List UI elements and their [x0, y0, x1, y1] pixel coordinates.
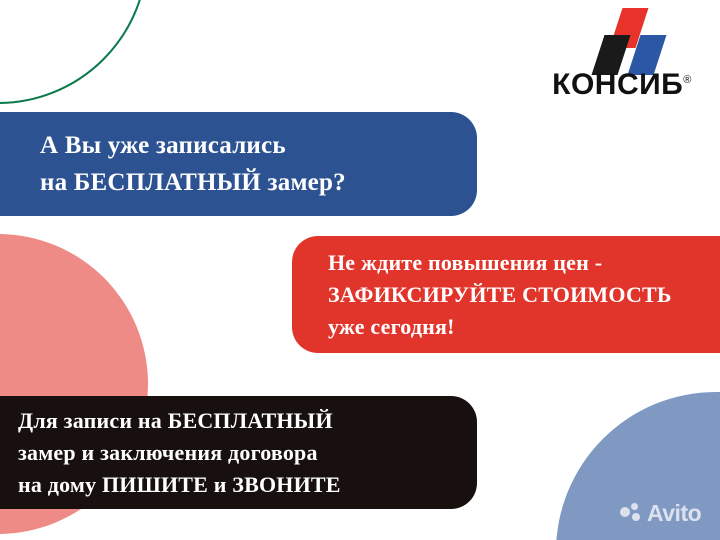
- black-banner-line-3: на дому ПИШИТЕ и ЗВОНИТЕ: [18, 469, 477, 501]
- black-banner-line-1: Для записи на БЕСПЛАТНЫЙ: [18, 405, 477, 437]
- logo-wordmark: КОНСИБ®: [532, 68, 712, 102]
- blue-banner-line-1: А Вы уже записались: [40, 127, 477, 164]
- red-callout-banner: Не ждите повышения цен - ЗАФИКСИРУЙТЕ СТ…: [292, 236, 720, 353]
- red-banner-line-1: Не ждите повышения цен -: [328, 247, 720, 279]
- red-banner-line-2: ЗАФИКСИРУЙТЕ СТОИМОСТЬ: [328, 279, 720, 311]
- black-callout-banner: Для записи на БЕСПЛАТНЫЙ замер и заключе…: [0, 396, 477, 509]
- red-banner-line-3: уже сегодня!: [328, 311, 720, 343]
- logo-wordmark-text: КОНСИБ: [552, 68, 683, 101]
- avito-dots-icon: [620, 503, 644, 523]
- decorative-green-ring: [0, 0, 148, 104]
- blue-banner-line-2: на БЕСПЛАТНЫЙ замер?: [40, 164, 477, 201]
- avito-wordmark: Avito: [647, 502, 701, 525]
- logo-mark-group: [590, 8, 668, 72]
- blue-callout-banner: А Вы уже записались на БЕСПЛАТНЫЙ замер?: [0, 112, 477, 216]
- konsib-logo: КОНСИБ®: [532, 8, 712, 104]
- advertisement-canvas: КОНСИБ® А Вы уже записались на БЕСПЛАТНЫ…: [0, 0, 720, 540]
- black-banner-line-2: замер и заключения договора: [18, 437, 477, 469]
- avito-watermark: Avito: [620, 500, 701, 526]
- registered-trademark-icon: ®: [683, 74, 692, 86]
